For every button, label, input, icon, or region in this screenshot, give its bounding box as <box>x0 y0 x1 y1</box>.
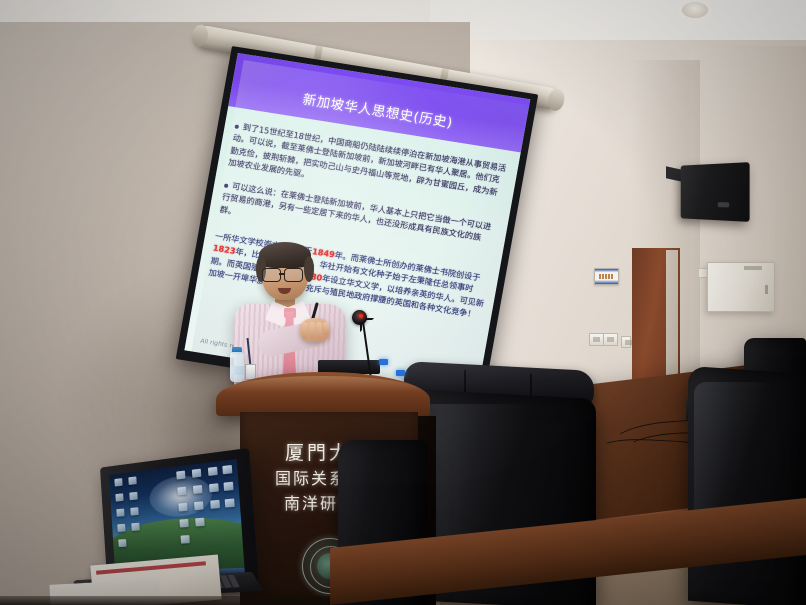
glasses-icon <box>262 268 281 282</box>
wall-placard <box>594 268 619 285</box>
electrical-panel[interactable] <box>707 262 775 312</box>
lecture-room-photo: 新加坡华人思想史(历史) 到了15世纪至18世纪，中国商船仍陆陆续续停泊在新加坡… <box>0 0 806 605</box>
presenter-hand <box>300 318 330 342</box>
podium-status-led <box>396 370 405 376</box>
finger <box>323 322 329 335</box>
light-switch[interactable] <box>621 336 631 348</box>
finger <box>302 322 308 339</box>
bottle-label <box>230 366 244 375</box>
finger <box>309 322 315 339</box>
bullet-icon <box>224 183 229 188</box>
panel-latch[interactable] <box>765 285 768 294</box>
glasses-bridge <box>279 273 284 275</box>
glasses-icon <box>284 268 303 282</box>
finger <box>316 322 322 339</box>
power-outlet[interactable] <box>603 333 618 346</box>
speaker-logo <box>718 202 730 207</box>
panel-vent <box>744 266 762 270</box>
desktop-icon-column[interactable] <box>208 467 221 517</box>
microphone-status-led <box>379 359 388 365</box>
bullet-icon <box>235 124 240 129</box>
foreground-shadow <box>0 596 330 605</box>
microphone-power-led <box>359 314 363 318</box>
desktop-icon-column[interactable] <box>222 465 235 516</box>
presenter-hair-side <box>304 256 314 282</box>
recessed-downlight-icon <box>682 2 708 18</box>
wall-speaker-icon <box>681 162 750 222</box>
presenter-hair <box>259 242 311 268</box>
power-outlet[interactable] <box>589 333 604 346</box>
